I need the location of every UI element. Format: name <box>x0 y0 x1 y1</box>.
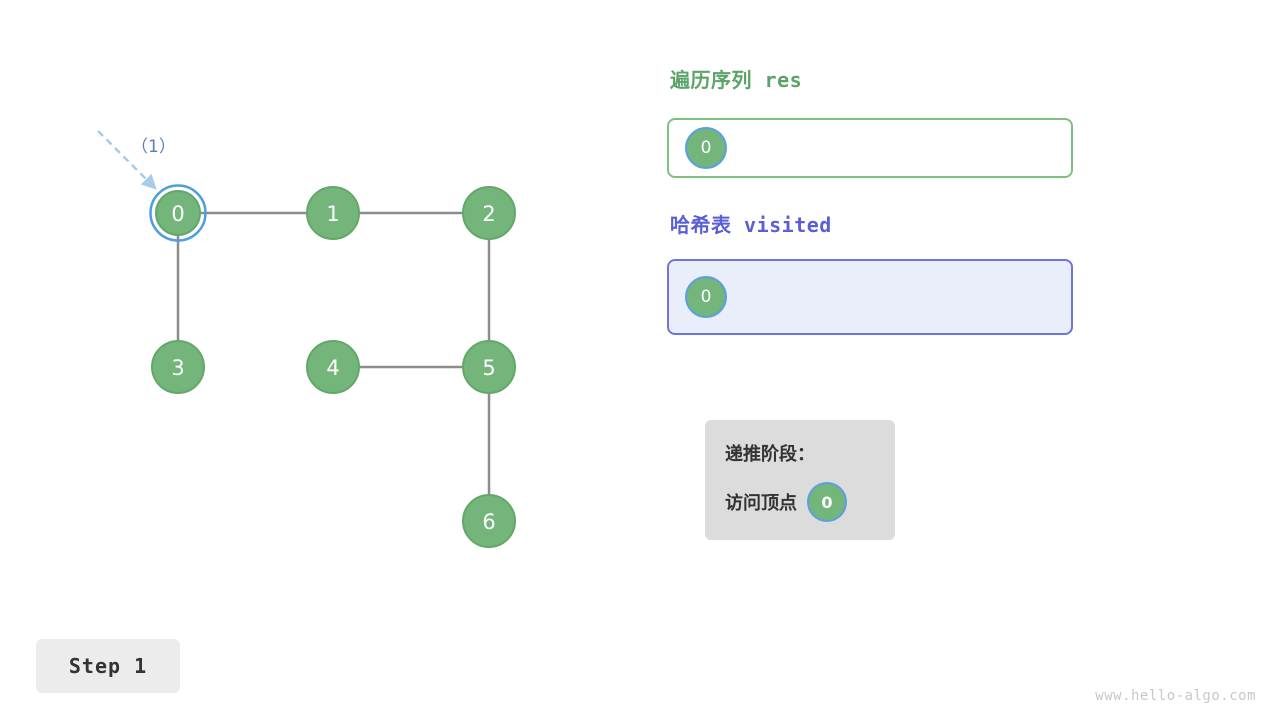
res-item-0: 0 <box>685 127 727 169</box>
node-6-label: 6 <box>482 510 495 534</box>
graph-node-6[interactable]: 6 <box>463 495 515 547</box>
visited-item-0: 0 <box>685 276 727 318</box>
node-2-label: 2 <box>482 202 495 226</box>
visited-box: 0 <box>667 259 1073 335</box>
phase-line: 递推阶段： <box>725 440 869 466</box>
graph-figure: （1） 0 1 2 3 4 <box>0 0 660 620</box>
graph-node-3[interactable]: 3 <box>152 341 204 393</box>
visited-title: 哈希表 visited <box>670 209 832 238</box>
node-4-label: 4 <box>326 356 339 380</box>
action-label: 访问顶点 <box>725 489 797 515</box>
pointer-arrow-label: （1） <box>131 137 176 157</box>
action-line: 访问顶点 0 <box>725 482 869 522</box>
action-vertex-chip: 0 <box>807 482 847 522</box>
graph-node-0[interactable]: 0 <box>151 186 206 241</box>
node-1-label: 1 <box>326 202 339 226</box>
node-3-label: 3 <box>171 356 184 380</box>
node-5-label: 5 <box>482 356 495 380</box>
step-badge: Step 1 <box>36 639 180 693</box>
res-box: 0 <box>667 118 1073 178</box>
node-0-label: 0 <box>171 202 184 226</box>
graph-node-4[interactable]: 4 <box>307 341 359 393</box>
diagram-canvas: （1） 0 1 2 3 4 <box>0 0 1280 720</box>
graph-node-2[interactable]: 2 <box>463 187 515 239</box>
phase-label: 递推阶段： <box>725 440 815 466</box>
res-title: 遍历序列 res <box>670 64 802 93</box>
step-pointer-arrow: （1） <box>98 131 176 188</box>
graph-node-1[interactable]: 1 <box>307 187 359 239</box>
graph-node-5[interactable]: 5 <box>463 341 515 393</box>
watermark: www.hello-algo.com <box>1095 688 1256 704</box>
phase-info-card: 递推阶段： 访问顶点 0 <box>705 420 895 540</box>
